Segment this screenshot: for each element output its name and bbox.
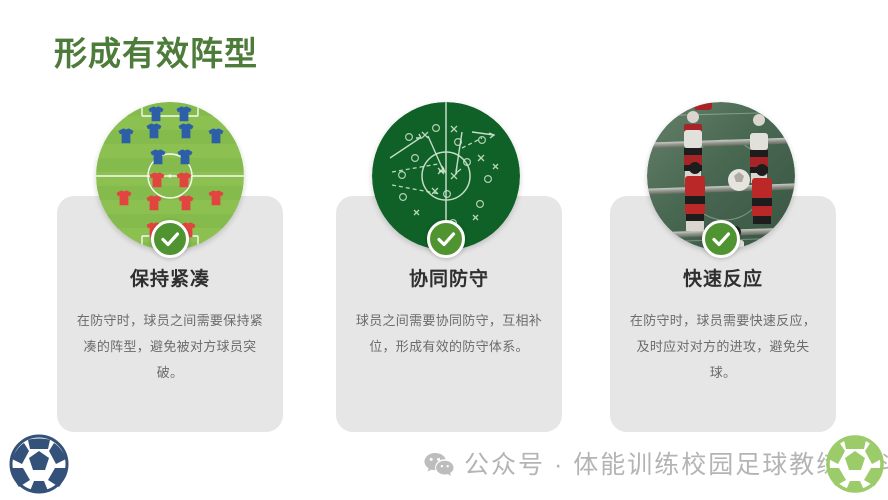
card-title: 保持紧凑 [57, 264, 283, 291]
slide-canvas: 形成有效阵型 保持紧凑 在防守时，球员之间需要保持紧凑的阵型，避免被对方球员突破… [0, 0, 888, 500]
check-icon [702, 220, 740, 258]
soccer-ball-logo [8, 433, 70, 495]
card-body: 在防守时，球员需要快速反应，及时应对对方的进攻，避免失球。 [626, 308, 820, 386]
check-icon [151, 220, 189, 258]
soccer-ball-watermark [825, 434, 885, 494]
card-body: 在防守时，球员之间需要保持紧凑的阵型，避免被对方球员突破。 [73, 308, 267, 386]
watermark: 公众号 · 体能训练校园足球教练资料 [424, 445, 888, 485]
card-title: 协同防守 [336, 264, 562, 291]
check-icon [427, 220, 465, 258]
page-title: 形成有效阵型 [54, 34, 258, 74]
card-title: 快速反应 [610, 264, 836, 291]
wechat-icon [424, 452, 454, 478]
card-body: 球员之间需要协同防守，互相补位，形成有效的防守体系。 [352, 308, 546, 360]
